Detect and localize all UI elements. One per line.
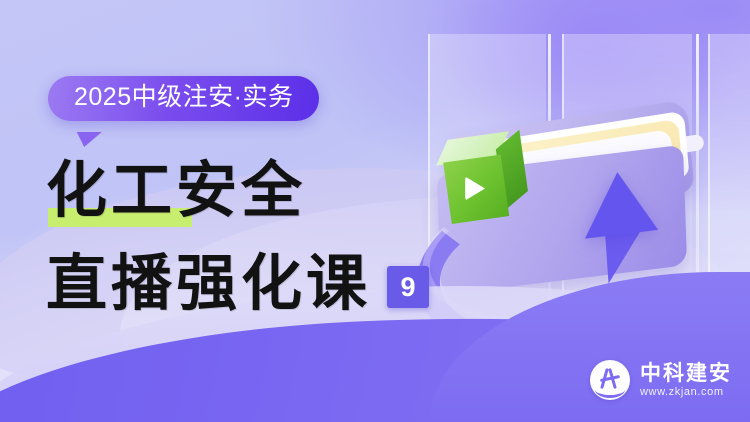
headline-line-1-row: 化工安全 xyxy=(46,152,429,230)
headline-block: 化工安全 直播强化课 9 xyxy=(46,152,429,324)
brand-logo: 中科建安 www.zkjan.com xyxy=(590,360,732,400)
episode-number-badge: 9 xyxy=(387,266,429,308)
headline-line-2-row: 直播强化课 9 xyxy=(46,244,429,324)
brand-logo-text: 中科建安 www.zkjan.com xyxy=(640,363,732,398)
logo-arc-shape xyxy=(595,381,625,398)
episode-number-label: 9 xyxy=(401,274,416,301)
brand-url: www.zkjan.com xyxy=(640,387,732,398)
play-icon xyxy=(465,176,485,200)
headline-line-2: 直播强化课 xyxy=(46,245,371,323)
course-category-badge: 2025中级注安·实务 xyxy=(48,76,319,121)
brand-name: 中科建安 xyxy=(640,363,732,384)
green-play-cube xyxy=(436,129,534,230)
zkjan-circular-mark-icon xyxy=(590,360,630,400)
course-category-label: 2025中级注安·实务 xyxy=(74,85,293,110)
badge-speech-tail xyxy=(75,132,102,147)
headline-line-1: 化工安全 xyxy=(46,152,429,230)
course-promo-banner: 2025中级注安·实务 化工安全 直播强化课 9 中科建安 www.zkjan.… xyxy=(0,0,750,422)
